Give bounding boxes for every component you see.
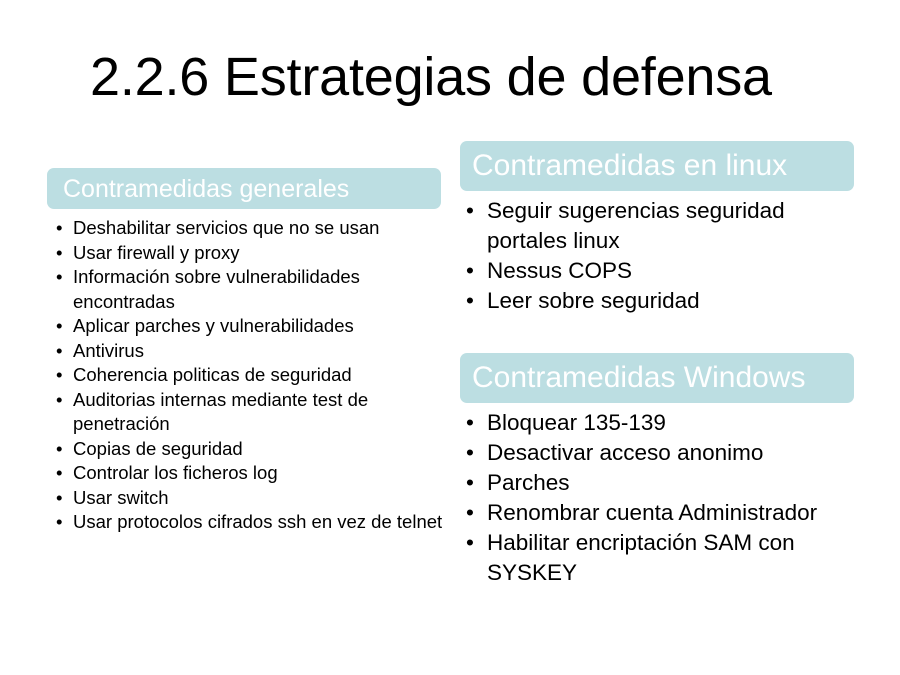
- page-title: 2.2.6 Estrategias de defensa: [90, 46, 850, 108]
- list-item: Seguir sugerencias seguridad portales li…: [466, 196, 856, 256]
- list-item: Parches: [466, 468, 861, 498]
- list-item: Copias de seguridad: [56, 437, 446, 462]
- list-item: Antivirus: [56, 339, 446, 364]
- list-item: Leer sobre seguridad: [466, 286, 856, 316]
- list-item: Información sobre vulnerabilidades encon…: [56, 265, 446, 314]
- list-item: Auditorias internas mediante test de pen…: [56, 388, 446, 437]
- presentation-slide: 2.2.6 Estrategias de defensa Contramedid…: [0, 0, 900, 675]
- section-heading-linux-label: Contramedidas en linux: [472, 149, 787, 183]
- section-heading-general: Contramedidas generales: [47, 168, 441, 209]
- list-item: Controlar los ficheros log: [56, 461, 446, 486]
- section-heading-windows-label: Contramedidas Windows: [472, 361, 805, 395]
- bullet-list-general: Deshabilitar servicios que no se usan Us…: [56, 216, 446, 535]
- list-item: Usar firewall y proxy: [56, 241, 446, 266]
- list-item: Deshabilitar servicios que no se usan: [56, 216, 446, 241]
- bullet-list-linux: Seguir sugerencias seguridad portales li…: [466, 196, 856, 316]
- list-item: Bloquear 135-139: [466, 408, 861, 438]
- list-item: Usar protocolos cifrados ssh en vez de t…: [56, 510, 446, 535]
- list-item: Aplicar parches y vulnerabilidades: [56, 314, 446, 339]
- bullet-list-windows: Bloquear 135-139 Desactivar acceso anoni…: [466, 408, 861, 588]
- list-item: Habilitar encriptación SAM con SYSKEY: [466, 528, 861, 588]
- list-item: Usar switch: [56, 486, 446, 511]
- list-item: Renombrar cuenta Administrador: [466, 498, 861, 528]
- list-item: Nessus COPS: [466, 256, 856, 286]
- section-heading-windows: Contramedidas Windows: [460, 353, 854, 403]
- section-heading-general-label: Contramedidas generales: [63, 175, 349, 203]
- list-item: Coherencia politicas de seguridad: [56, 363, 446, 388]
- section-heading-linux: Contramedidas en linux: [460, 141, 854, 191]
- list-item: Desactivar acceso anonimo: [466, 438, 861, 468]
